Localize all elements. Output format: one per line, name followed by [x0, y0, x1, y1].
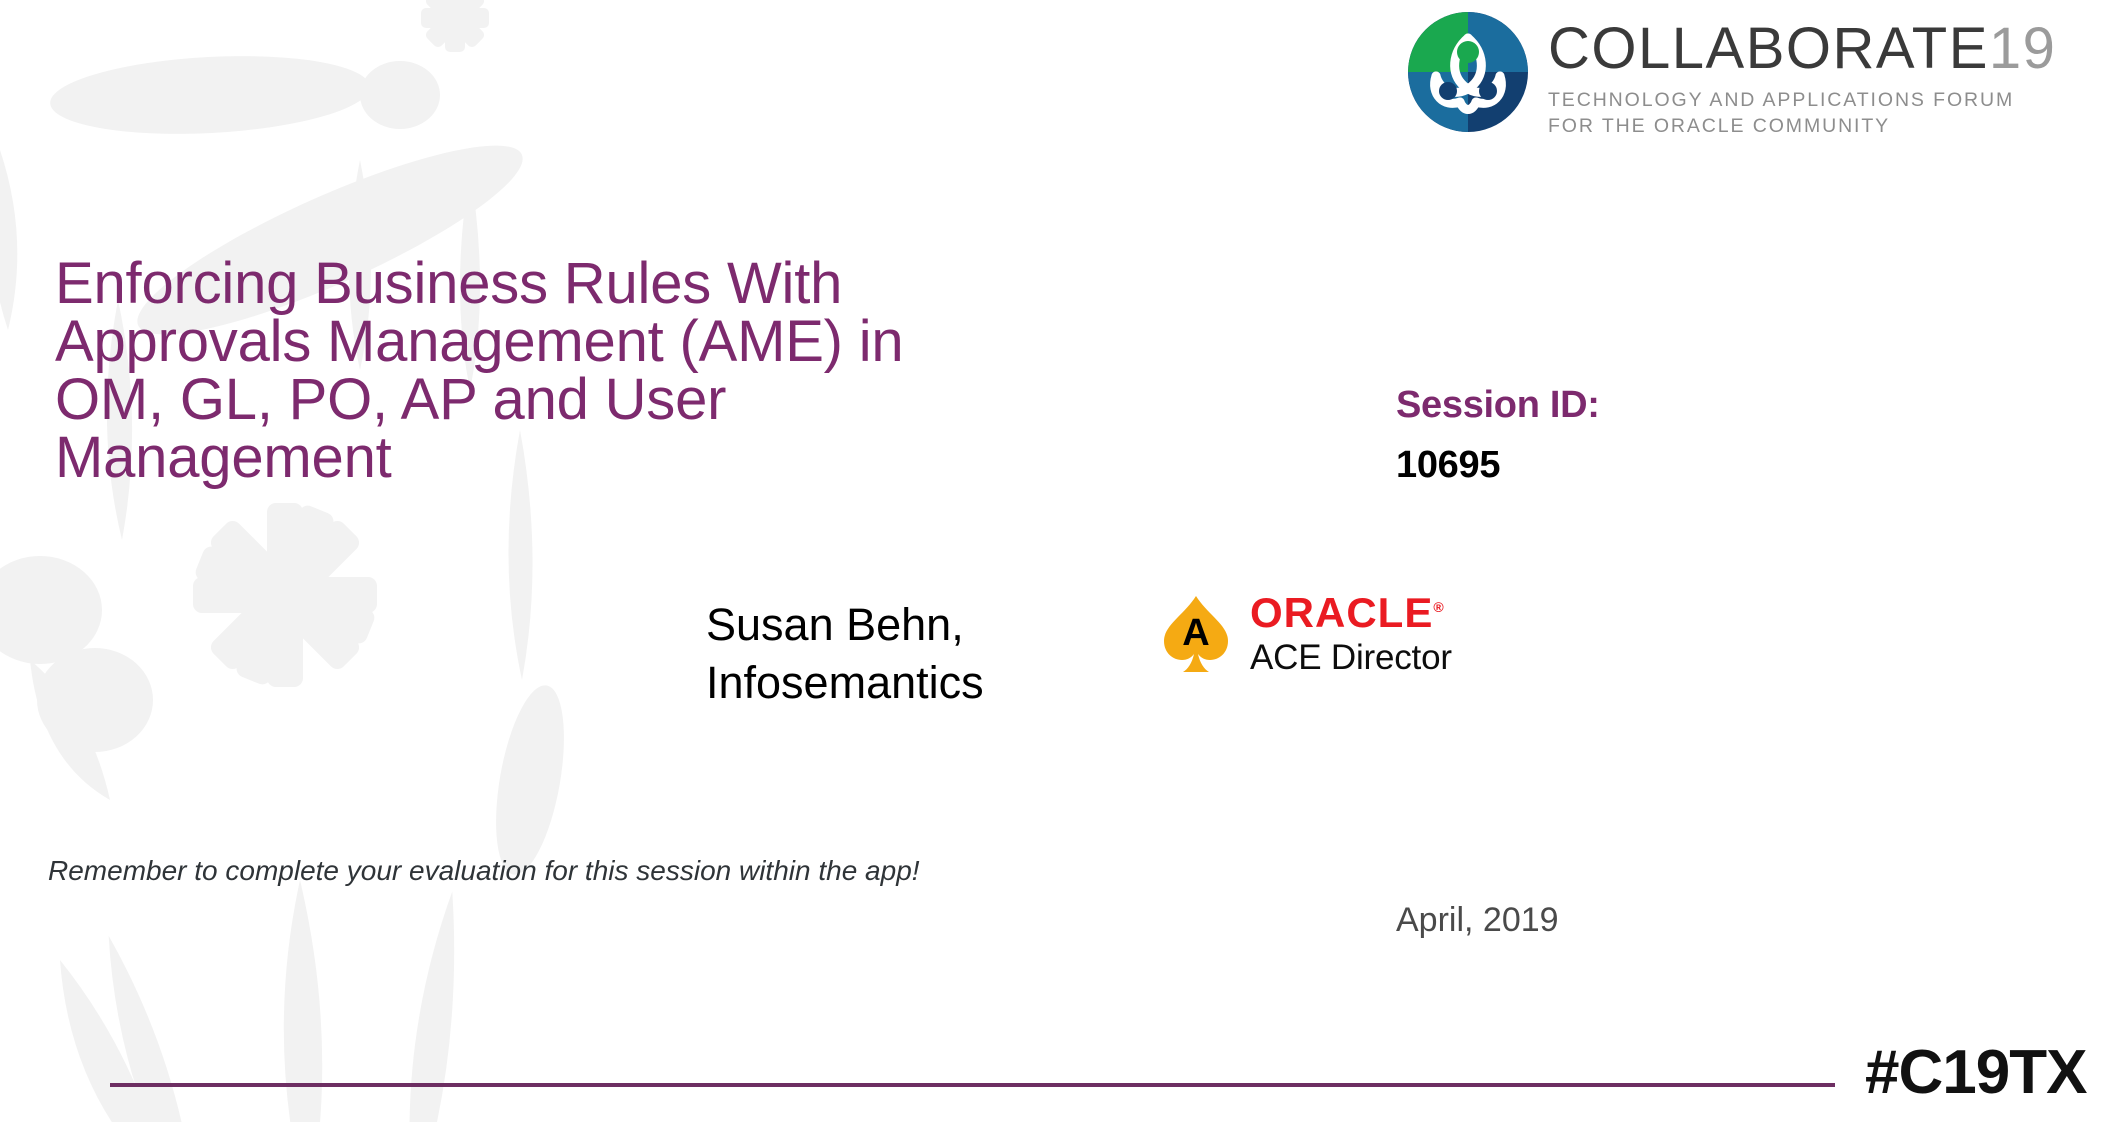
- session-id-block: Session ID: 10695: [1396, 384, 1600, 487]
- oracle-ace-director-badge: A ORACLE® ACE Director: [1158, 592, 1452, 675]
- presenter-name: Susan Behn,: [706, 596, 1036, 654]
- slide-title: Enforcing Business Rules With Approvals …: [55, 255, 1035, 487]
- session-id-value: 10695: [1396, 444, 1600, 487]
- collaborate-knot-logo-icon: [1404, 8, 1532, 136]
- collaborate-word: COLLABORATE19: [1548, 20, 2056, 78]
- collaborate-tagline-line1: TECHNOLOGY AND APPLICATIONS FORUM: [1548, 88, 2056, 114]
- collaborate-word-main: COLLABORATE: [1548, 16, 1989, 81]
- presenter-name-block: Susan Behn, Infosemantics: [706, 596, 1036, 711]
- evaluation-reminder-note: Remember to complete your evaluation for…: [48, 855, 920, 887]
- background-watermark: [0, 0, 2102, 1122]
- presenter-company: Infosemantics: [706, 654, 1036, 712]
- slide-title-line-3: OM, GL, PO, AP and User: [55, 371, 1035, 429]
- svg-text:A: A: [1182, 612, 1209, 654]
- slide-title-line-1: Enforcing Business Rules With: [55, 255, 1035, 313]
- slide-title-line-4: Management: [55, 429, 1035, 487]
- oracle-ace-spade-icon: A: [1158, 593, 1234, 675]
- collaborate-word-year: 19: [1989, 16, 2057, 81]
- oracle-wordmark: ORACLE®: [1250, 592, 1445, 634]
- session-id-label: Session ID:: [1396, 384, 1600, 428]
- presentation-date: April, 2019: [1396, 901, 1559, 940]
- slide-title-line-2: Approvals Management (AME) in: [55, 313, 1035, 371]
- collaborate-conference-logo: COLLABORATE19 TECHNOLOGY AND APPLICATION…: [1404, 8, 2094, 138]
- registered-trademark-icon: ®: [1433, 599, 1444, 615]
- conference-hashtag: #C19TX: [1865, 1037, 2086, 1108]
- ace-level-label: ACE Director: [1250, 640, 1452, 675]
- collaborate-tagline: TECHNOLOGY AND APPLICATIONS FORUM FOR TH…: [1548, 88, 2056, 139]
- oracle-wordmark-text: ORACLE: [1250, 589, 1433, 636]
- collaborate-tagline-line2: FOR THE ORACLE COMMUNITY: [1548, 114, 2056, 140]
- collaborate-wordmark: COLLABORATE19 TECHNOLOGY AND APPLICATION…: [1548, 8, 2056, 139]
- ace-badge-text: ORACLE® ACE Director: [1250, 592, 1452, 675]
- presentation-slide: COLLABORATE19 TECHNOLOGY AND APPLICATION…: [0, 0, 2102, 1122]
- footer-divider: [110, 1083, 1835, 1087]
